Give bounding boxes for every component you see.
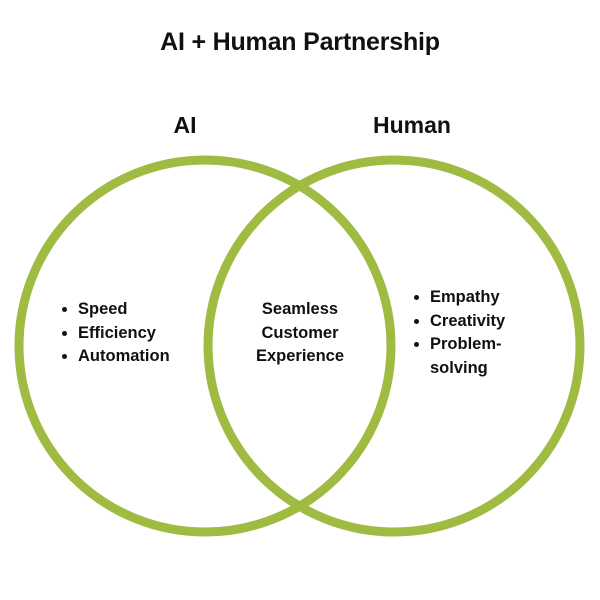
- list-item: Creativity: [413, 310, 525, 334]
- intersection-line-3: Experience: [230, 345, 370, 369]
- list-item: Empathy: [413, 286, 525, 310]
- list-item: Speed: [61, 298, 211, 322]
- intersection-label: Seamless Customer Experience: [230, 298, 370, 369]
- list-item: Automation: [61, 345, 211, 369]
- list-ai-items: Speed Efficiency Automation: [61, 298, 211, 369]
- list-item: Problem-solving: [413, 333, 525, 380]
- list-item: Efficiency: [61, 322, 211, 346]
- intersection-line-1: Seamless: [230, 298, 370, 322]
- venn-diagram-canvas: AI + Human Partnership AI Human Speed Ef…: [0, 0, 600, 600]
- intersection-line-2: Customer: [230, 322, 370, 346]
- list-human-items: Empathy Creativity Problem-solving: [413, 286, 525, 380]
